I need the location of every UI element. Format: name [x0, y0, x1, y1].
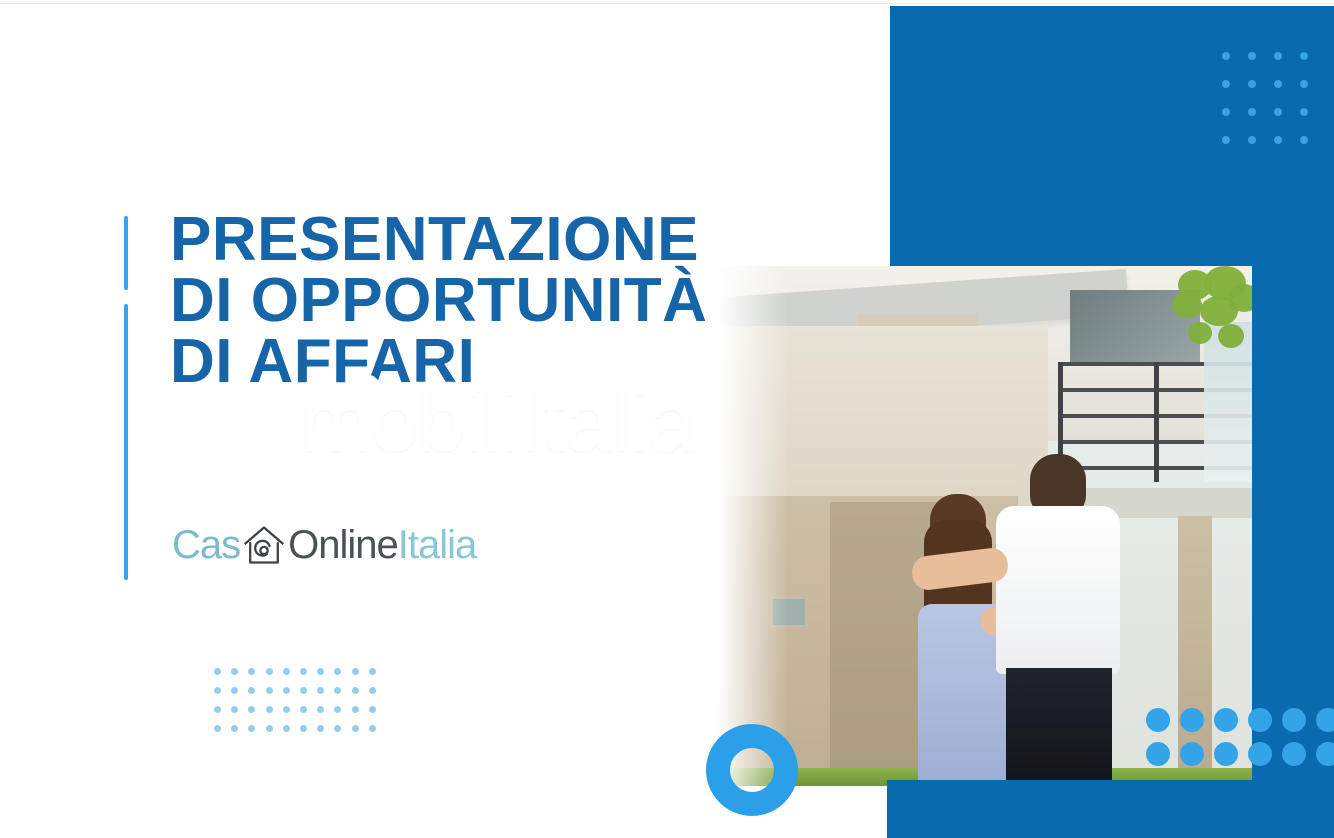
photo-person-man [990, 454, 1124, 786]
title-line-1: PRESENTAZIONE [170, 210, 870, 271]
accent-bar-bottom [124, 304, 128, 580]
accent-bar-top [124, 216, 128, 290]
dot-grid-top-right [1222, 52, 1326, 164]
photo-tree [1170, 266, 1252, 362]
dot-grid-bottom-right [1146, 708, 1334, 770]
logo-text-online: Online [288, 525, 398, 565]
logo-text-cas: Cas [172, 525, 240, 565]
presentation-slide: PRESENTAZIONE DI OPPORTUNITÀ DI AFFARI m… [0, 0, 1334, 838]
blue-band-bottom [887, 780, 1334, 838]
dot-grid-left [214, 668, 386, 744]
top-divider [0, 3, 1334, 4]
house-at-icon [241, 522, 287, 568]
brand-logo[interactable]: Cas Online Italia [172, 520, 476, 570]
photo-small-window [770, 596, 808, 628]
ring-accent [706, 724, 798, 816]
logo-text-italia: Italia [398, 525, 477, 565]
